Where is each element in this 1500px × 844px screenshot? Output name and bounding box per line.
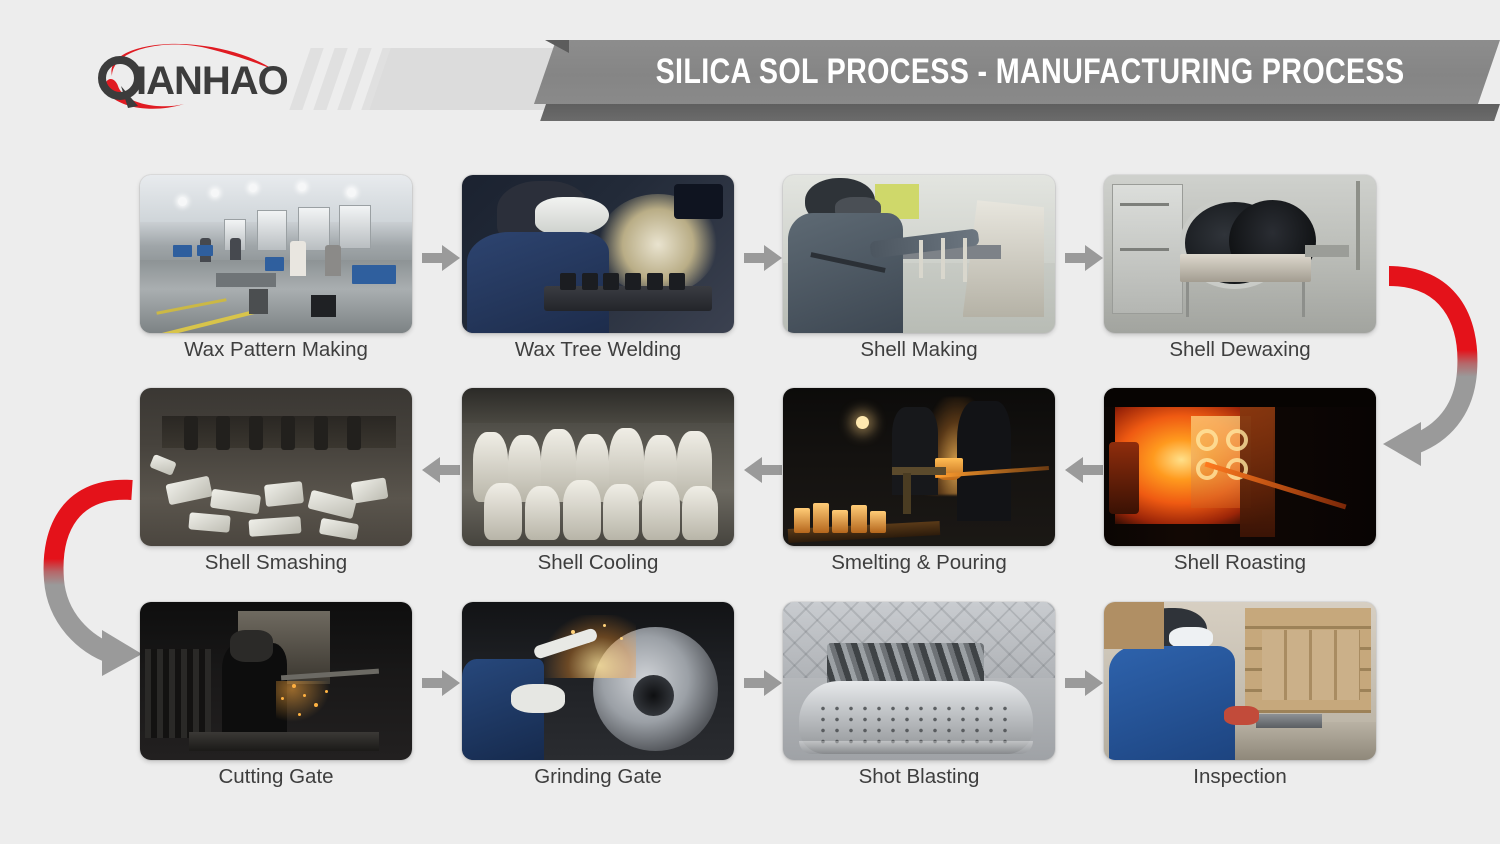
page-title: SILICA SOL PROCESS - MANUFACTURING PROCE… xyxy=(677,40,1382,104)
step-caption: Shell Making xyxy=(783,338,1055,362)
arrow-right-icon xyxy=(744,243,782,273)
step-caption: Shell Roasting xyxy=(1104,551,1376,575)
arrow-right-icon xyxy=(1065,668,1103,698)
process-step-card[interactable] xyxy=(140,388,412,546)
step-caption: Cutting Gate xyxy=(140,765,412,789)
slide-canvas: IANHAO SILICA SOL PROCESS - MANUFACTURIN… xyxy=(0,0,1500,844)
process-step-card[interactable] xyxy=(462,388,734,546)
step-photo-cutting-gate xyxy=(140,602,412,760)
step-photo-shell-roasting xyxy=(1104,388,1376,546)
process-step-card[interactable] xyxy=(462,602,734,760)
connector-uturn-right-icon xyxy=(1375,262,1500,482)
step-photo-smelting-and-pouring xyxy=(783,388,1055,546)
step-photo-shot-blasting xyxy=(783,602,1055,760)
step-caption: Shot Blasting xyxy=(783,765,1055,789)
arrow-right-icon xyxy=(1065,243,1103,273)
step-caption: Shell Smashing xyxy=(140,551,412,575)
step-photo-shell-dewaxing xyxy=(1104,175,1376,333)
arrow-right-icon xyxy=(422,243,460,273)
step-caption: Grinding Gate xyxy=(462,765,734,789)
process-step-card[interactable] xyxy=(1104,175,1376,333)
arrow-left-icon xyxy=(1065,455,1103,485)
process-step-card[interactable] xyxy=(140,602,412,760)
step-photo-inspection xyxy=(1104,602,1376,760)
process-step-card[interactable] xyxy=(783,175,1055,333)
step-caption: Smelting & Pouring xyxy=(783,551,1055,575)
process-step-card[interactable] xyxy=(783,602,1055,760)
header-banner-fold xyxy=(540,104,1500,121)
logo-mark-icon: IANHAO xyxy=(88,42,298,114)
step-photo-shell-cooling xyxy=(462,388,734,546)
process-step-card[interactable] xyxy=(1104,602,1376,760)
qianhao-logo: IANHAO xyxy=(88,42,298,114)
slide-header: IANHAO SILICA SOL PROCESS - MANUFACTURIN… xyxy=(0,0,1500,140)
process-step-card[interactable] xyxy=(140,175,412,333)
arrow-right-icon xyxy=(744,668,782,698)
process-step-card[interactable] xyxy=(462,175,734,333)
arrow-left-icon xyxy=(422,455,460,485)
step-caption: Inspection xyxy=(1104,765,1376,789)
step-photo-grinding-gate xyxy=(462,602,734,760)
svg-text:IANHAO: IANHAO xyxy=(136,59,288,103)
step-photo-wax-pattern-making xyxy=(140,175,412,333)
process-step-card[interactable] xyxy=(783,388,1055,546)
process-step-card[interactable] xyxy=(1104,388,1376,546)
arrow-right-icon xyxy=(422,668,460,698)
step-caption: Shell Cooling xyxy=(462,551,734,575)
step-photo-shell-smashing xyxy=(140,388,412,546)
step-caption: Wax Pattern Making xyxy=(140,338,412,362)
step-photo-wax-tree-welding xyxy=(462,175,734,333)
step-caption: Shell Dewaxing xyxy=(1104,338,1376,362)
arrow-left-icon xyxy=(744,455,782,485)
step-photo-shell-making xyxy=(783,175,1055,333)
step-caption: Wax Tree Welding xyxy=(462,338,734,362)
